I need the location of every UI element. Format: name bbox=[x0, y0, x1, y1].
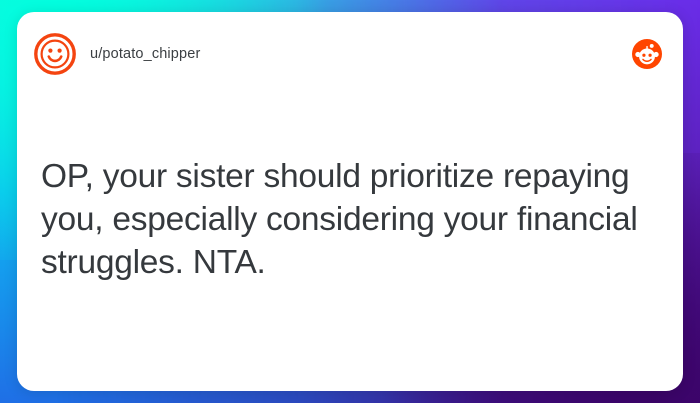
card-header: u/potato_chipper bbox=[17, 12, 683, 96]
username-label: u/potato_chipper bbox=[90, 46, 200, 62]
smiley-face-avatar-icon bbox=[34, 33, 76, 75]
reddit-snoo-icon[interactable] bbox=[632, 39, 662, 69]
reddit-comment-card: u/potato_chipper OP, your sister should … bbox=[17, 12, 683, 391]
screenshot-root: u/potato_chipper OP, your sister should … bbox=[0, 0, 700, 403]
comment-quote-text: OP, your sister should prioritize repayi… bbox=[41, 155, 655, 284]
